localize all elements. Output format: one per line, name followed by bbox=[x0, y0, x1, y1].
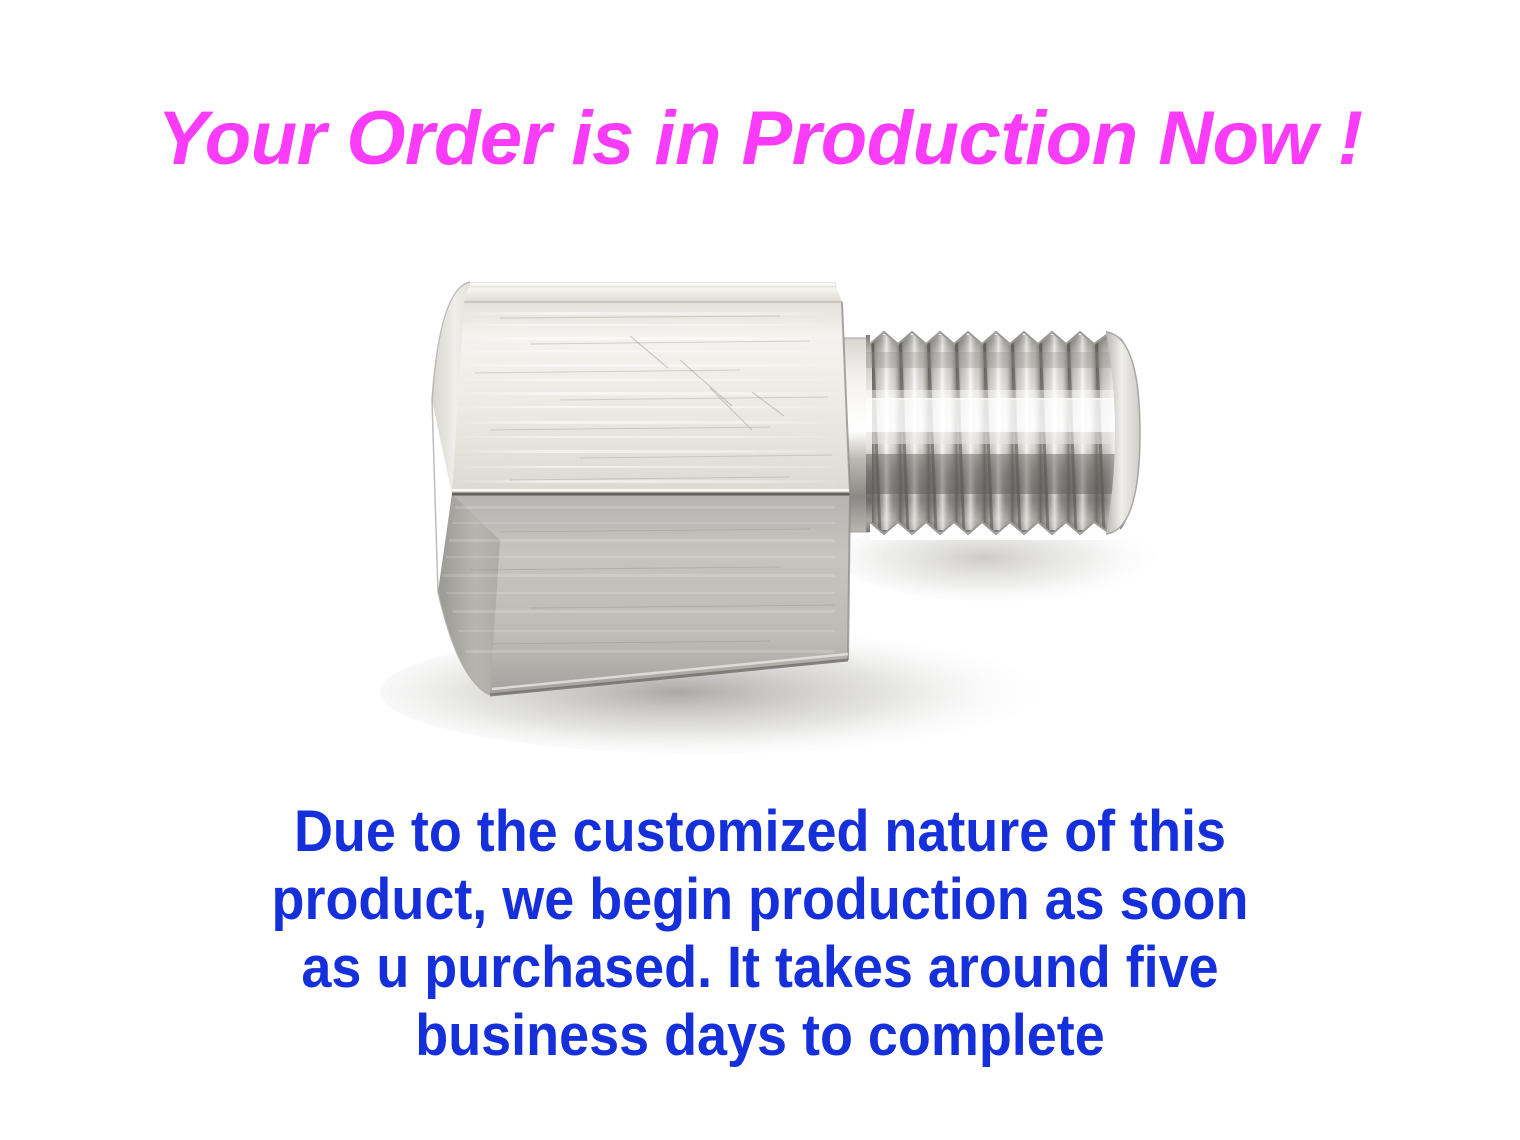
notice-line-4: business days to complete bbox=[53, 1002, 1467, 1070]
product-image bbox=[380, 240, 1180, 780]
production-notice-text: Due to the customized nature of this pro… bbox=[53, 798, 1467, 1070]
notice-line-1: Due to the customized nature of this bbox=[53, 798, 1467, 866]
hex-body bbox=[432, 282, 860, 695]
page-title: Your Order is in Production Now ! bbox=[0, 96, 1520, 182]
male-thread bbox=[835, 328, 1140, 540]
notice-line-2: product, we begin production as soon bbox=[53, 866, 1467, 934]
promo-banner: Your Order is in Production Now ! bbox=[0, 0, 1520, 1140]
thread-ridges bbox=[866, 332, 1136, 535]
hex-facet-upper bbox=[432, 302, 850, 494]
hex-adapter-illustration bbox=[380, 240, 1180, 780]
notice-line-3: as u purchased. It takes around five bbox=[53, 934, 1467, 1002]
